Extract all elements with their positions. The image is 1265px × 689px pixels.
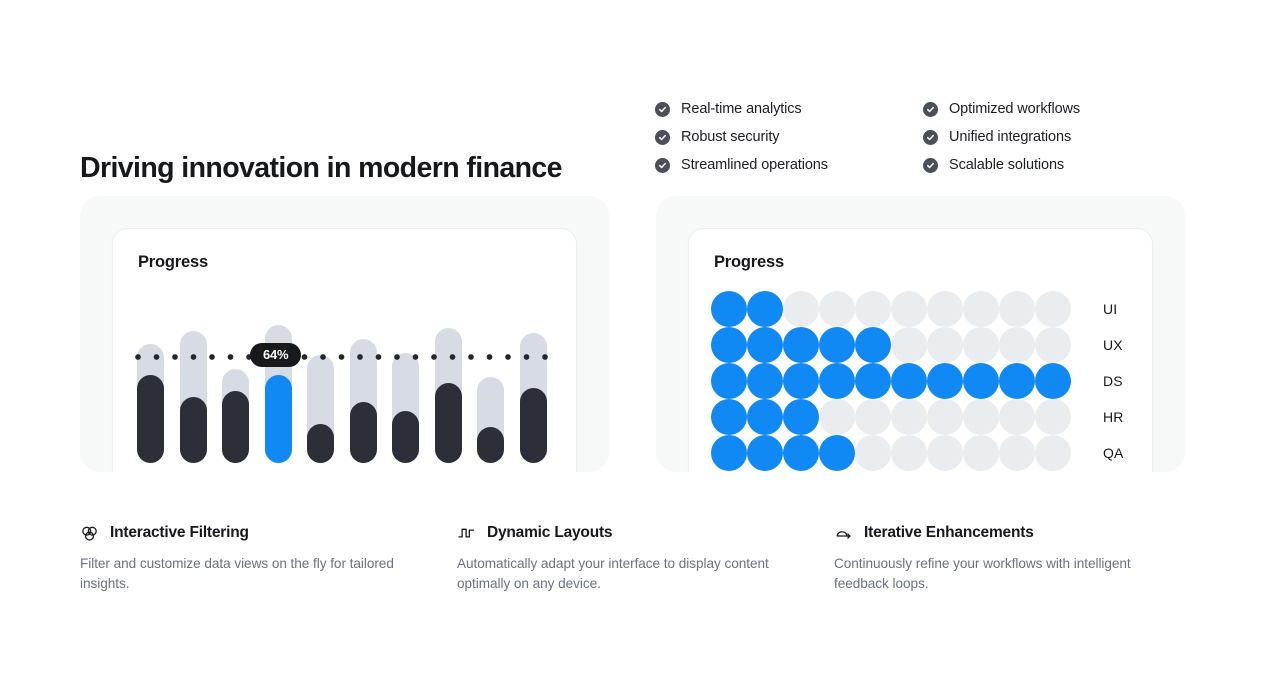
bottom-feature-interactive-filtering: Interactive Filtering Filter and customi…	[80, 520, 457, 594]
dot-empty[interactable]	[1035, 327, 1071, 363]
feature-item-streamlined-operations: Streamlined operations	[655, 151, 923, 179]
feature-label: Real-time analytics	[681, 101, 802, 117]
bar-fill	[222, 391, 249, 463]
feature-item-unified-integrations: Unified integrations	[923, 123, 1185, 151]
bar-chart-card: Progress 64%	[80, 196, 609, 472]
dot-matrix-plot: UIUXDSHRQA	[711, 291, 1131, 471]
dot-filled[interactable]	[747, 327, 783, 363]
dot-empty[interactable]	[855, 291, 891, 327]
dot-matrix-row-dots	[711, 363, 1074, 399]
dot-filled[interactable]	[711, 435, 747, 471]
check-circle-icon	[655, 102, 670, 117]
dot-filled[interactable]	[819, 327, 855, 363]
bottom-feature-dynamic-layouts: Dynamic Layouts Automatically adapt your…	[457, 520, 834, 594]
dot-empty[interactable]	[963, 327, 999, 363]
loop-arrow-icon	[834, 524, 853, 543]
dot-filled[interactable]	[783, 399, 819, 435]
dot-filled[interactable]	[963, 363, 999, 399]
bar-fill	[520, 388, 547, 463]
dot-filled[interactable]	[711, 291, 747, 327]
feature-label: Unified integrations	[949, 129, 1071, 145]
dot-matrix-row-dots	[711, 291, 1074, 327]
dot-matrix-row-label: HR	[1103, 409, 1123, 425]
dot-filled[interactable]	[711, 327, 747, 363]
bar-fill-active	[265, 375, 292, 463]
feature-item-optimized-workflows: Optimized workflows	[923, 95, 1185, 123]
dot-filled[interactable]	[819, 363, 855, 399]
check-circle-icon	[923, 102, 938, 117]
dot-filled[interactable]	[747, 435, 783, 471]
dot-matrix-title: Progress	[714, 253, 784, 272]
dot-empty[interactable]	[855, 399, 891, 435]
bottom-feature-desc: Continuously refine your workflows with …	[834, 554, 1184, 594]
dot-empty[interactable]	[891, 327, 927, 363]
dot-empty[interactable]	[999, 327, 1035, 363]
dot-empty[interactable]	[927, 291, 963, 327]
dot-filled[interactable]	[783, 435, 819, 471]
check-circle-icon	[655, 130, 670, 145]
bottom-feature-grid: Interactive Filtering Filter and customi…	[80, 520, 1190, 594]
dot-empty[interactable]	[963, 291, 999, 327]
bar-fill	[392, 411, 419, 463]
feature-item-robust-security: Robust security	[655, 123, 923, 151]
bar-chart-plot: 64%	[135, 303, 555, 472]
feature-label: Scalable solutions	[949, 157, 1064, 173]
bottom-feature-iterative-enhancements: Iterative Enhancements Continuously refi…	[834, 520, 1190, 594]
dot-filled[interactable]	[819, 435, 855, 471]
dot-matrix-row: UX	[711, 327, 1131, 363]
bar-chart-title: Progress	[138, 253, 208, 272]
dot-empty[interactable]	[783, 291, 819, 327]
dot-filled[interactable]	[855, 363, 891, 399]
bar-fill	[350, 402, 377, 463]
feature-item-real-time-analytics: Real-time analytics	[655, 95, 923, 123]
dot-filled[interactable]	[1035, 363, 1071, 399]
dot-empty[interactable]	[927, 399, 963, 435]
dot-empty[interactable]	[999, 435, 1035, 471]
dot-matrix-row-dots	[711, 399, 1074, 435]
dot-matrix-row-label: UX	[1103, 337, 1123, 353]
dot-empty[interactable]	[891, 291, 927, 327]
dot-empty[interactable]	[927, 327, 963, 363]
dot-matrix-row: UI	[711, 291, 1131, 327]
dot-matrix-row-dots	[711, 327, 1074, 363]
feature-checklist: Real-time analytics Optimized workflows …	[655, 95, 1185, 179]
dot-empty[interactable]	[1035, 435, 1071, 471]
dot-filled[interactable]	[711, 363, 747, 399]
dot-matrix-panel: Progress UIUXDSHRQA	[688, 228, 1153, 472]
dot-filled[interactable]	[747, 291, 783, 327]
feature-label: Robust security	[681, 129, 779, 145]
threshold-dotted-line	[135, 354, 553, 360]
dot-matrix-row-label: DS	[1103, 373, 1123, 389]
dot-filled[interactable]	[783, 363, 819, 399]
bar-fill	[180, 397, 207, 463]
dot-empty[interactable]	[819, 291, 855, 327]
dot-empty[interactable]	[999, 291, 1035, 327]
dot-matrix-row-label: QA	[1103, 445, 1123, 461]
square-wave-icon	[457, 524, 476, 543]
dot-empty[interactable]	[891, 435, 927, 471]
feature-label: Optimized workflows	[949, 101, 1080, 117]
dot-filled[interactable]	[747, 363, 783, 399]
blend-circles-icon	[80, 524, 99, 543]
dot-filled[interactable]	[927, 363, 963, 399]
bar-chart-panel: Progress 64%	[112, 228, 577, 472]
dot-empty[interactable]	[1035, 399, 1071, 435]
dot-empty[interactable]	[819, 399, 855, 435]
dot-matrix-card: Progress UIUXDSHRQA	[656, 196, 1185, 472]
bottom-feature-title: Iterative Enhancements	[864, 524, 1034, 542]
dot-filled[interactable]	[855, 327, 891, 363]
dot-empty[interactable]	[963, 399, 999, 435]
page-title: Driving innovation in modern finance	[80, 152, 562, 185]
dot-matrix-row: QA	[711, 435, 1131, 471]
dot-empty[interactable]	[927, 435, 963, 471]
dot-filled[interactable]	[711, 399, 747, 435]
dot-empty[interactable]	[891, 399, 927, 435]
bottom-feature-desc: Automatically adapt your interface to di…	[457, 554, 787, 594]
bar-fill	[477, 427, 504, 463]
dot-empty[interactable]	[1035, 291, 1071, 327]
dot-matrix-row-dots	[711, 435, 1074, 471]
dot-empty[interactable]	[999, 399, 1035, 435]
threshold-value-badge: 64%	[250, 343, 301, 367]
check-circle-icon	[655, 158, 670, 173]
feature-item-scalable-solutions: Scalable solutions	[923, 151, 1185, 179]
bottom-feature-desc: Filter and customize data views on the f…	[80, 554, 410, 594]
feature-label: Streamlined operations	[681, 157, 828, 173]
page-root: Driving innovation in modern finance Rea…	[0, 0, 1265, 689]
dot-matrix-row-label: UI	[1103, 301, 1117, 317]
dot-filled[interactable]	[891, 363, 927, 399]
dot-filled[interactable]	[999, 363, 1035, 399]
bottom-feature-title: Interactive Filtering	[110, 524, 249, 542]
bar-fill	[307, 424, 334, 463]
dot-empty[interactable]	[855, 435, 891, 471]
dot-filled[interactable]	[747, 399, 783, 435]
bar-fill	[435, 383, 462, 463]
dot-matrix-row: HR	[711, 399, 1131, 435]
check-circle-icon	[923, 130, 938, 145]
bar-fill	[137, 375, 164, 463]
dot-filled[interactable]	[783, 327, 819, 363]
dot-empty[interactable]	[963, 435, 999, 471]
bottom-feature-title: Dynamic Layouts	[487, 524, 612, 542]
check-circle-icon	[923, 158, 938, 173]
dot-matrix-row: DS	[711, 363, 1131, 399]
